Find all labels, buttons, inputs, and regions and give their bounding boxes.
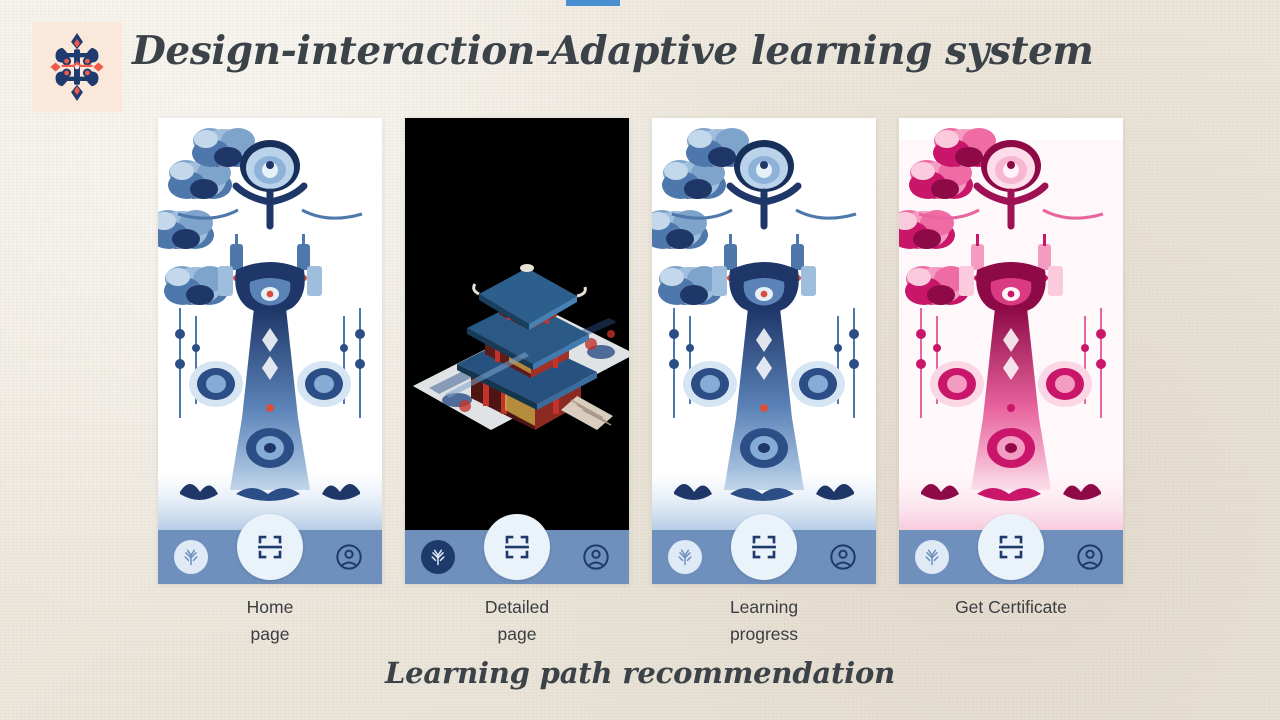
caption-detailed-line2: page [405, 621, 629, 648]
phone-mockup-progress[interactable] [652, 118, 876, 584]
scan-frame-icon [255, 532, 285, 562]
app-logo [32, 22, 122, 112]
user-profile-icon [829, 543, 857, 571]
bottom-nav-progress [652, 530, 876, 584]
tree-icon [181, 547, 201, 567]
tree-icon [675, 547, 695, 567]
footer-caption: Learning path recommendation [0, 656, 1280, 690]
nav-item-tree-home[interactable] [174, 540, 208, 574]
top-blue-sliver [566, 0, 620, 6]
screen-artwork-progress [652, 118, 876, 530]
phone-mockups-row [158, 118, 1123, 584]
nav-item-profile-detailed[interactable] [579, 540, 613, 574]
nav-item-profile-progress[interactable] [826, 540, 860, 574]
screen-artwork-home [158, 118, 382, 530]
phone-mockup-detailed[interactable] [405, 118, 629, 584]
isometric-pavilion-illustration [405, 118, 629, 530]
phone-captions-row: Home page Detailed page Learning progres… [158, 594, 1123, 656]
caption-certificate: Get Certificate [899, 594, 1123, 656]
phone-mockup-certificate[interactable] [899, 118, 1123, 584]
nav-item-scan-progress[interactable] [731, 514, 797, 580]
nav-item-tree-progress[interactable] [668, 540, 702, 574]
phone-mockup-home[interactable] [158, 118, 382, 584]
bottom-nav-certificate [899, 530, 1123, 584]
user-profile-icon [335, 543, 363, 571]
nav-item-tree-certificate[interactable] [915, 540, 949, 574]
caption-home-line2: page [158, 621, 382, 648]
nav-item-profile-home[interactable] [332, 540, 366, 574]
caption-detailed-line1: Detailed [405, 594, 629, 621]
nav-item-scan-certificate[interactable] [978, 514, 1044, 580]
caption-home: Home page [158, 594, 382, 656]
caption-progress-line2: progress [652, 621, 876, 648]
caption-progress-line1: Learning [652, 594, 876, 621]
blossom-tree-illustration [899, 118, 1123, 530]
porcelain-tree-illustration [158, 118, 382, 530]
caption-home-line1: Home [158, 594, 382, 621]
screen-artwork-certificate [899, 118, 1123, 530]
nav-item-tree-detailed[interactable] [421, 540, 455, 574]
tree-icon [922, 547, 942, 567]
user-profile-icon [1076, 543, 1104, 571]
porcelain-tree-illustration [652, 118, 876, 530]
bottom-nav-home [158, 530, 382, 584]
tree-icon [428, 547, 448, 567]
screen-artwork-detailed [405, 118, 629, 530]
nav-item-scan-detailed[interactable] [484, 514, 550, 580]
nav-item-profile-certificate[interactable] [1073, 540, 1107, 574]
user-profile-icon [582, 543, 610, 571]
scan-frame-icon [996, 532, 1026, 562]
caption-certificate-line1: Get Certificate [899, 594, 1123, 621]
caption-progress: Learning progress [652, 594, 876, 656]
ornamental-diamond-icon [40, 30, 114, 104]
caption-detailed: Detailed page [405, 594, 629, 656]
scan-frame-icon [749, 532, 779, 562]
nav-item-scan-home[interactable] [237, 514, 303, 580]
bottom-nav-detailed [405, 530, 629, 584]
page-title: Design-interaction-Adaptive learning sys… [132, 28, 1093, 74]
scan-frame-icon [502, 532, 532, 562]
